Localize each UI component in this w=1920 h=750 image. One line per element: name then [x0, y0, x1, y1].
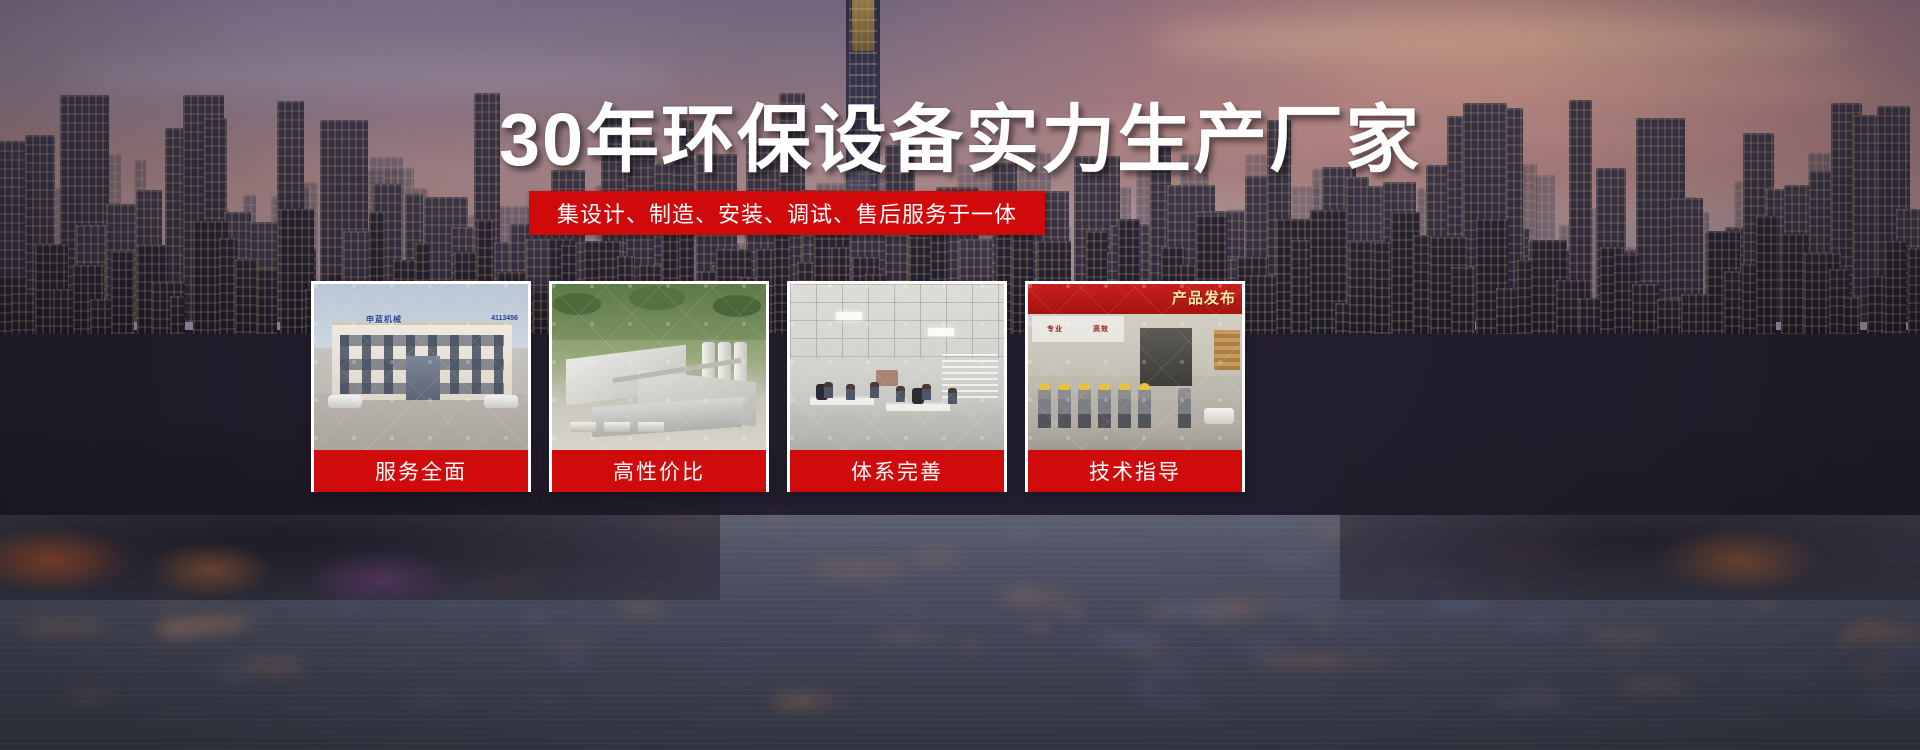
- watermark-dot: [552, 436, 556, 440]
- watermark-dot: [552, 398, 556, 402]
- hard-hat-icon: [1059, 383, 1070, 390]
- photo-side-banner: 专业 高效: [1032, 316, 1124, 342]
- watermark-dot: [866, 360, 870, 364]
- photo-worker: [1138, 388, 1151, 428]
- photo-truck: [570, 422, 596, 432]
- photo-treeline: [552, 284, 766, 340]
- watermark-dot: [314, 360, 318, 364]
- photo-red-banner-text: 产品发布: [1172, 287, 1236, 308]
- photo-phone-number: 4113456: [491, 315, 518, 322]
- office-building-staff-photo: 申蓝机械 4113456: [314, 284, 528, 450]
- hard-hat-icon: [1039, 383, 1050, 390]
- aerial-factory-plant-photo: [552, 284, 766, 450]
- photo-building-entrance: [406, 356, 440, 400]
- watermark-dot: [704, 436, 708, 440]
- photo-person: [824, 382, 833, 398]
- photo-workshop-door: [1140, 328, 1192, 386]
- banner-content: 30年环保设备实力生产厂家 集设计、制造、安装、调试、售后服务于一体 申蓝机械 …: [0, 0, 1920, 750]
- photo-person: [948, 388, 957, 404]
- watermark-dot: [1028, 398, 1032, 402]
- office-interior-team-photo: [790, 284, 1004, 450]
- subtitle-bar: 集设计、制造、安装、调试、售后服务于一体: [529, 191, 1045, 235]
- photo-worker: [1058, 388, 1071, 428]
- photo-van: [1204, 408, 1234, 424]
- watermark-dot: [742, 436, 746, 440]
- photo-company-sign: 申蓝机械: [366, 314, 402, 325]
- photo-ceiling-light: [836, 312, 862, 320]
- photo-material-stack: [1214, 330, 1240, 370]
- photo-side-banner-text-2: 高效: [1093, 324, 1109, 334]
- watermark-dot: [628, 436, 632, 440]
- photo-car: [328, 395, 362, 408]
- feature-card[interactable]: 申蓝机械 4113456 服务全面: [311, 281, 531, 492]
- feature-card-label: 技术指导: [1028, 450, 1242, 492]
- hard-hat-icon: [1119, 383, 1130, 390]
- page-title: 30年环保设备实力生产厂家: [0, 103, 1920, 177]
- photo-ceiling: [790, 284, 1004, 358]
- photo-truck: [638, 422, 664, 432]
- feature-card[interactable]: 高性价比: [549, 281, 769, 492]
- photo-person: [896, 386, 905, 402]
- hard-hat-icon: [1099, 383, 1110, 390]
- photo-car: [484, 395, 518, 408]
- photo-person: [922, 384, 931, 400]
- photo-worker: [1118, 388, 1131, 428]
- watermark-dot: [314, 284, 318, 288]
- photo-side-banner-text-1: 专业: [1047, 324, 1063, 334]
- watermark-dot: [552, 360, 556, 364]
- hard-hat-icon: [1139, 383, 1150, 390]
- watermark-dot: [828, 360, 832, 364]
- feature-card[interactable]: 产品发布 专业 高效: [1025, 281, 1245, 492]
- workshop-workers-photo: 产品发布 专业 高效: [1028, 284, 1242, 450]
- feature-card[interactable]: 体系完善: [787, 281, 1007, 492]
- photo-worker: [1078, 388, 1091, 428]
- feature-card-label: 体系完善: [790, 450, 1004, 492]
- hero-banner: 30年环保设备实力生产厂家 集设计、制造、安装、调试、售后服务于一体 申蓝机械 …: [0, 0, 1920, 750]
- feature-card-label: 服务全面: [314, 450, 528, 492]
- watermark-dot: [628, 398, 632, 402]
- photo-ceiling-light: [928, 328, 954, 336]
- watermark-dot: [314, 322, 318, 326]
- photo-worker: [1098, 388, 1111, 428]
- watermark-dot: [352, 284, 356, 288]
- subtitle-bar-text: 集设计、制造、安装、调试、售后服务于一体: [557, 197, 1017, 229]
- watermark-dot: [666, 436, 670, 440]
- feature-card-label: 高性价比: [552, 450, 766, 492]
- watermark-dot: [904, 360, 908, 364]
- photo-person: [870, 382, 879, 398]
- photo-wall-logo: [876, 370, 898, 386]
- watermark-dot: [428, 284, 432, 288]
- photo-person: [846, 384, 855, 400]
- watermark-dot: [1218, 398, 1222, 402]
- watermark-dot: [390, 284, 394, 288]
- watermark-dot: [466, 284, 470, 288]
- photo-truck: [604, 422, 630, 432]
- hard-hat-icon: [1079, 383, 1090, 390]
- photo-worker: [1038, 388, 1051, 428]
- feature-card-list: 申蓝机械 4113456 服务全面: [311, 281, 1245, 492]
- watermark-dot: [504, 284, 508, 288]
- photo-worker: [1178, 388, 1191, 428]
- watermark-dot: [790, 360, 794, 364]
